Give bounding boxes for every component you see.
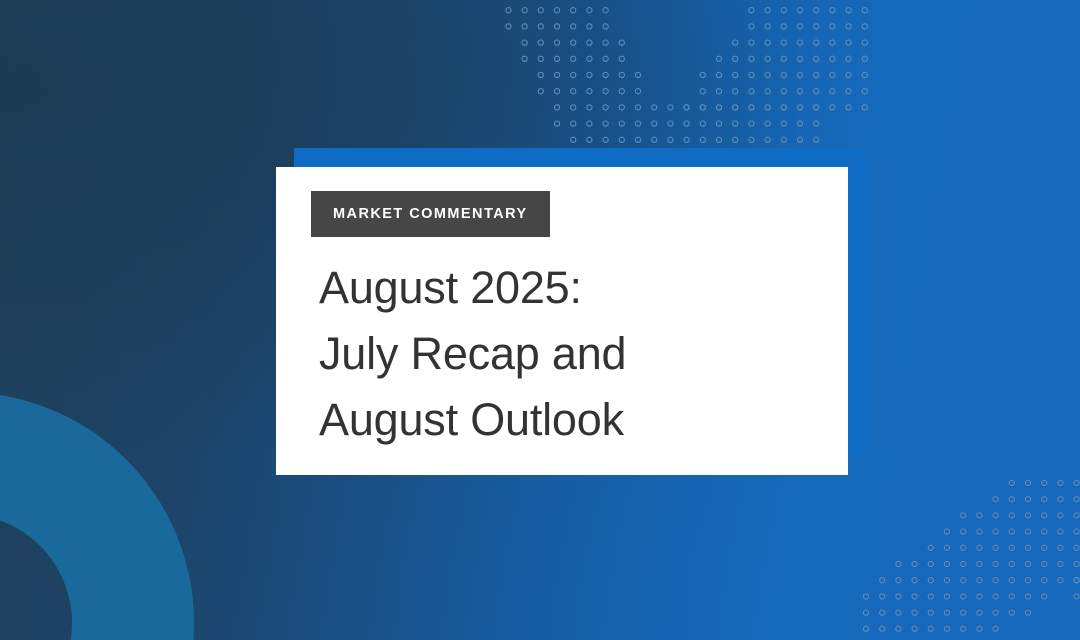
status-badge: MARKET COMMENTARY (311, 191, 550, 237)
page-title-line-3: August Outlook (319, 387, 799, 453)
page-title-line-1: August 2025: (319, 255, 799, 321)
page-title-line-2: July Recap and (319, 321, 799, 387)
page-title: August 2025: July Recap and August Outlo… (319, 255, 799, 453)
commentary-card: MARKET COMMENTARY August 2025: July Reca… (276, 167, 848, 475)
hero-banner: MARKET COMMENTARY August 2025: July Reca… (0, 0, 1080, 640)
